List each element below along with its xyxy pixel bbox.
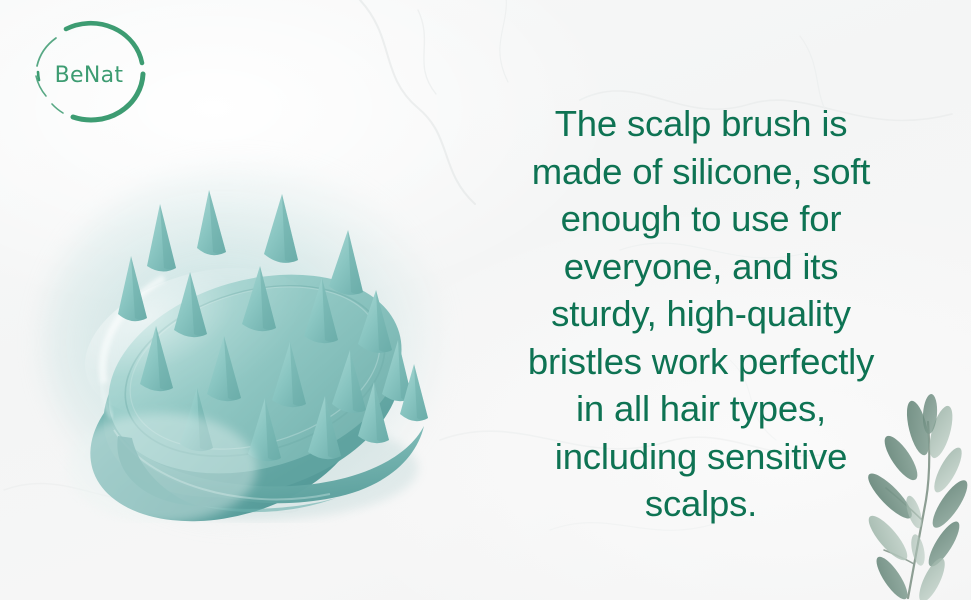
product-banner: BeNat: [0, 0, 971, 600]
bristle: [147, 204, 176, 272]
olive-branch-decoration: [858, 392, 971, 600]
scalp-brush-illustration: [52, 168, 452, 523]
bristle: [264, 194, 298, 263]
brand-logo: BeNat: [26, 16, 152, 128]
logo-wordmark: BeNat: [26, 63, 152, 88]
bristle: [197, 190, 226, 255]
scalp-brush-image: [52, 168, 452, 523]
bristle: [329, 230, 363, 295]
